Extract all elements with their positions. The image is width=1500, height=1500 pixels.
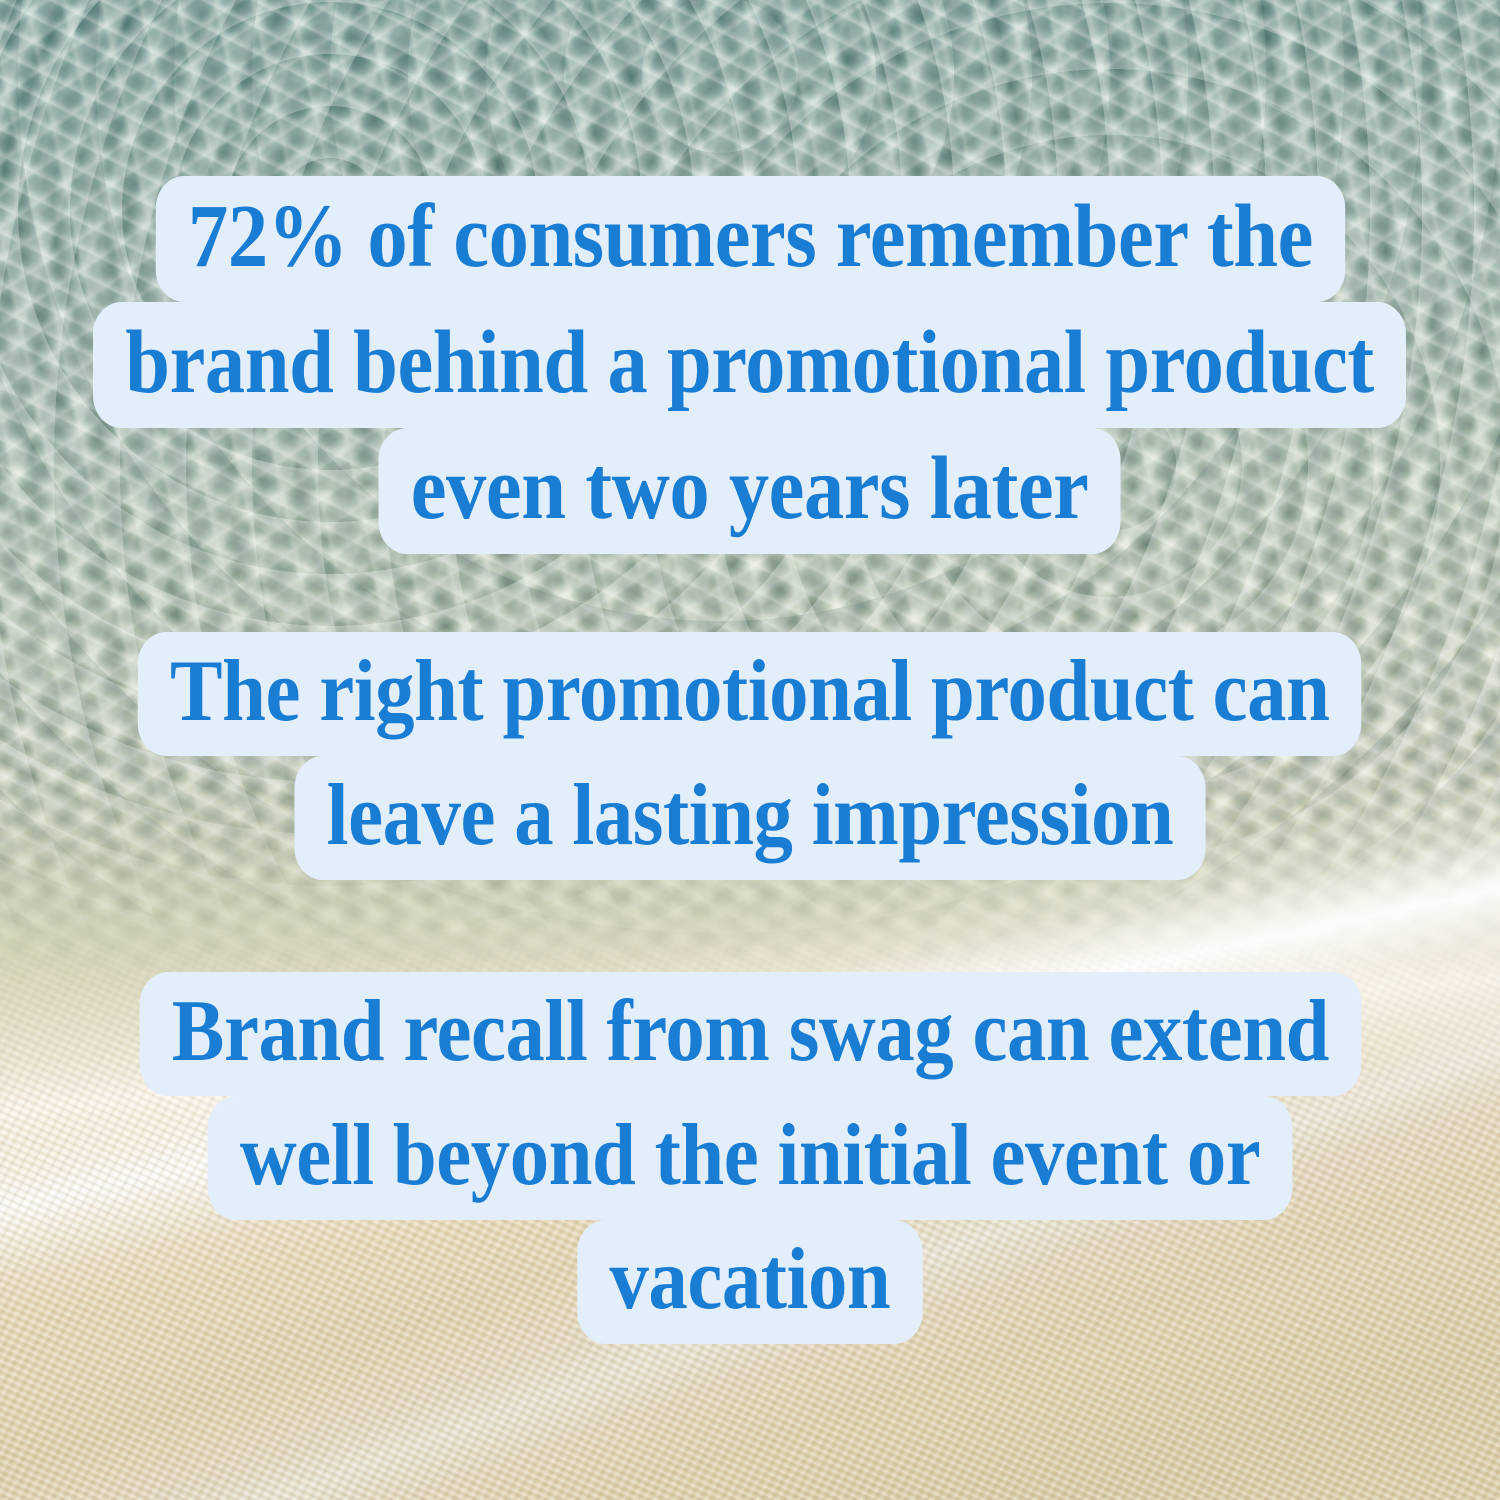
statement-block-3: Brand recall from swag can extend well b… [0, 972, 1500, 1344]
statement-line: well beyond the initial event or [0, 1096, 1500, 1220]
highlighted-text-chip: vacation [577, 1220, 922, 1344]
highlighted-text-chip: 72% of consumers remember the [155, 176, 1344, 302]
highlighted-text-chip: leave a lasting impression [294, 756, 1205, 880]
highlighted-text-chip: brand behind a promotional product [93, 302, 1406, 428]
statement-line: 72% of consumers remember the [0, 176, 1500, 302]
highlighted-text-chip: well beyond the initial event or [208, 1096, 1293, 1220]
statement-line: The right promotional product can [0, 632, 1500, 756]
statement-line: brand behind a promotional product [0, 302, 1500, 428]
statement-line: Brand recall from swag can extend [0, 972, 1500, 1096]
statement-line: even two years later [0, 428, 1500, 554]
statement-block-1: 72% of consumers remember the brand behi… [0, 176, 1500, 554]
statement-line: leave a lasting impression [0, 756, 1500, 880]
highlighted-text-chip: Brand recall from swag can extend [139, 972, 1361, 1096]
highlighted-text-chip: even two years later [379, 428, 1121, 554]
poster-canvas: 72% of consumers remember the brand behi… [0, 0, 1500, 1500]
text-overlay-stack: 72% of consumers remember the brand behi… [0, 0, 1500, 1500]
highlighted-text-chip: The right promotional product can [138, 632, 1362, 756]
statement-block-2: The right promotional product can leave … [0, 632, 1500, 880]
statement-line: vacation [0, 1220, 1500, 1344]
